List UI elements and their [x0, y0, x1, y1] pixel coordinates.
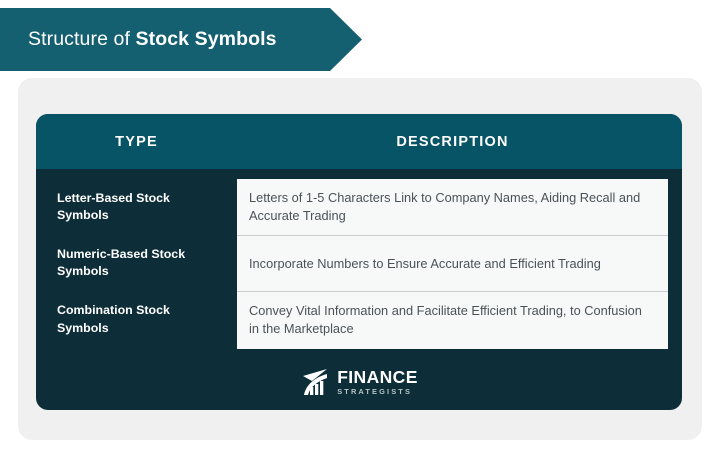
logo-subtitle: STRATEGISTS	[337, 388, 418, 395]
banner-arrow-shape: Structure of Stock Symbols	[0, 8, 362, 71]
cell-description: Convey Vital Information and Facilitate …	[237, 291, 668, 348]
logo-name: FINANCE	[337, 369, 418, 387]
column-header-type: TYPE	[36, 134, 237, 150]
header-banner: Structure of Stock Symbols	[0, 8, 362, 71]
cell-description: Incorporate Numbers to Ensure Accurate a…	[237, 235, 668, 291]
column-header-description: DESCRIPTION	[237, 134, 668, 150]
logo-text: FINANCE STRATEGISTS	[337, 369, 418, 396]
brand-logo: FINANCE STRATEGISTS	[36, 368, 682, 396]
page-title-bold: Stock Symbols	[136, 28, 277, 50]
page-title: Structure of Stock Symbols	[0, 28, 277, 51]
table-card: TYPE DESCRIPTION Letter-Based Stock Symb…	[36, 114, 682, 410]
table-row: Numeric-Based Stock Symbols Incorporate …	[36, 235, 682, 291]
logo-lockup: FINANCE STRATEGISTS	[300, 368, 418, 396]
bar-chart-arrow-icon	[300, 368, 330, 396]
cell-type: Numeric-Based Stock Symbols	[36, 235, 237, 291]
table-header-row: TYPE DESCRIPTION	[36, 114, 682, 169]
cell-type: Combination Stock Symbols	[36, 291, 237, 348]
table-row: Letter-Based Stock Symbols Letters of 1-…	[36, 179, 682, 235]
table-body: Letter-Based Stock Symbols Letters of 1-…	[36, 169, 682, 349]
cell-type: Letter-Based Stock Symbols	[36, 179, 237, 235]
table-row: Combination Stock Symbols Convey Vital I…	[36, 291, 682, 348]
page-title-regular: Structure of	[28, 28, 136, 50]
cell-description: Letters of 1-5 Characters Link to Compan…	[237, 179, 668, 235]
